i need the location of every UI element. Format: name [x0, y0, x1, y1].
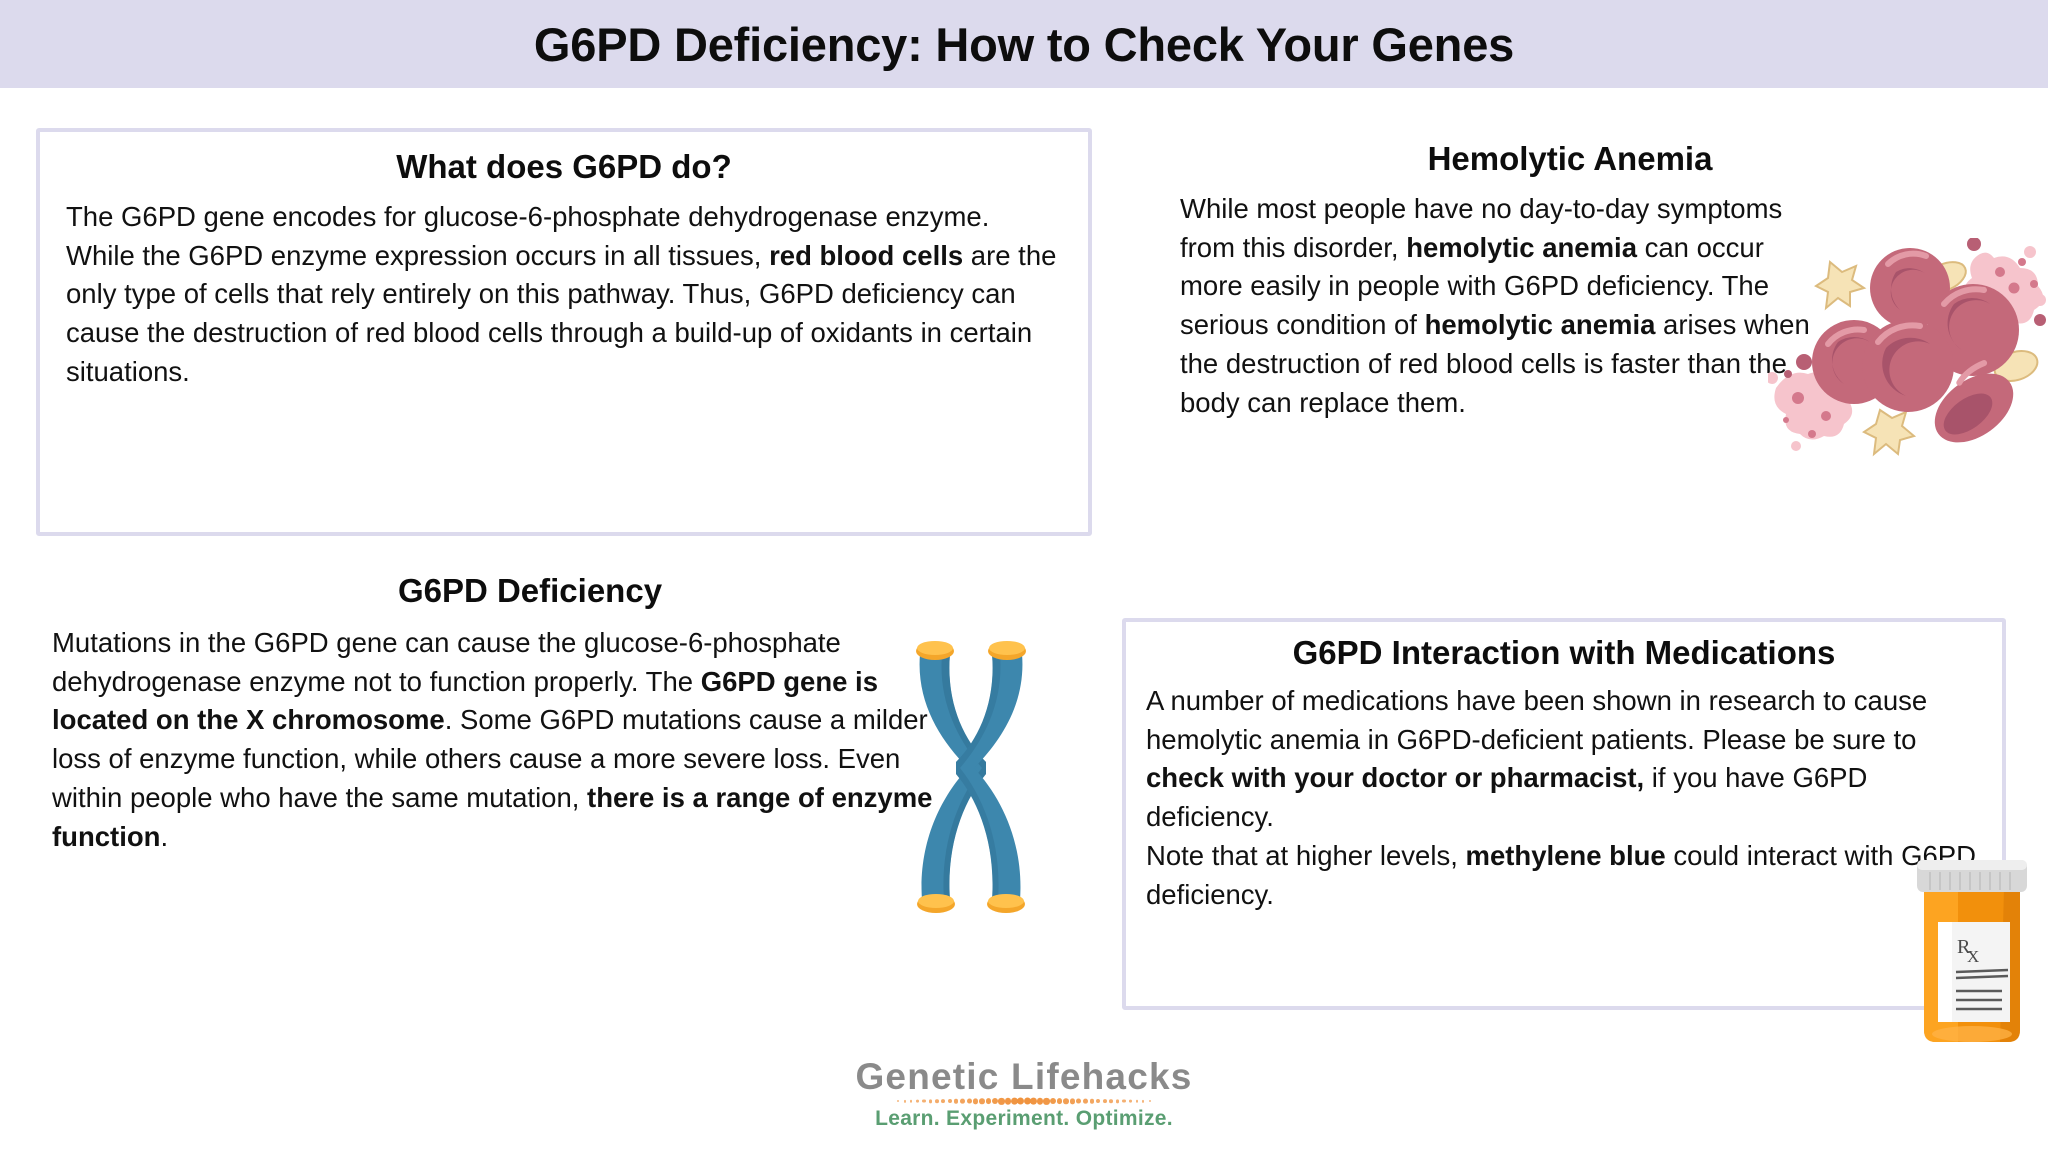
- section-what-does-g6pd-do: What does G6PD do? The G6PD gene encodes…: [36, 128, 1092, 536]
- section-body-g6pd-deficiency: Mutations in the G6PD gene can cause the…: [52, 624, 950, 857]
- section-title-g6pd-deficiency: G6PD Deficiency: [30, 572, 1030, 610]
- logo-dot-divider: [895, 1098, 1153, 1105]
- x-chromosome-illustration: [896, 628, 1046, 926]
- logo-brand-text: Genetic Lifehacks: [0, 1058, 2048, 1097]
- section-body-hemolytic-anemia: While most people have no day-to-day sym…: [1180, 190, 1820, 423]
- section-body-what-does-g6pd-do: The G6PD gene encodes for glucose-6-phos…: [66, 198, 1062, 392]
- section-title-what-does-g6pd-do: What does G6PD do?: [40, 148, 1088, 186]
- section-title-hemolytic-anemia: Hemolytic Anemia: [1150, 140, 1990, 178]
- section-body-g6pd-interaction-with-medications: A number of medications have been shown …: [1146, 682, 1984, 915]
- logo-tagline-text: Learn. Experiment. Optimize.: [0, 1107, 2048, 1131]
- chromosome-arm-right: [956, 654, 1022, 900]
- section-g6pd-interaction-with-medications: G6PD Interaction with Medications A numb…: [1122, 618, 2006, 1010]
- footer-logo: Genetic Lifehacks Learn. Experiment. Opt…: [0, 1058, 2048, 1131]
- red-blood-cell-icon-4: [1862, 320, 1954, 412]
- svg-text:X: X: [1967, 947, 1979, 966]
- pill-bottle-illustration: R X: [1912, 848, 2032, 1048]
- red-blood-cells-illustration: [1768, 238, 2048, 458]
- section-title-g6pd-interaction-with-medications: G6PD Interaction with Medications: [1126, 634, 2002, 672]
- page-title: G6PD Deficiency: How to Check Your Genes: [534, 17, 1514, 72]
- page-header-band: G6PD Deficiency: How to Check Your Genes: [0, 0, 2048, 88]
